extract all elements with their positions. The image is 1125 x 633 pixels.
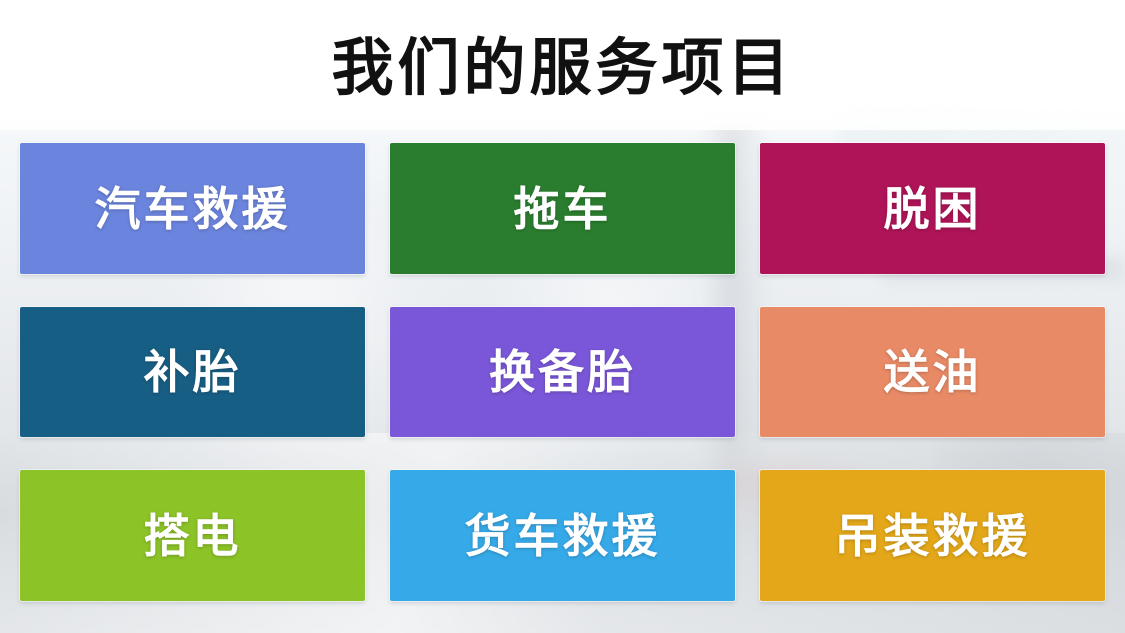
service-tile-tire-repair[interactable]: 补胎 <box>20 307 365 437</box>
service-tile-label: 换备胎 <box>489 349 636 395</box>
service-tile-car-rescue[interactable]: 汽车救援 <box>20 143 365 274</box>
header: 我们的服务项目 <box>0 0 1125 130</box>
service-tile-label: 补胎 <box>144 349 242 395</box>
service-tile-extrication[interactable]: 脱困 <box>760 143 1105 274</box>
service-tile-label: 送油 <box>884 349 982 395</box>
service-tile-label: 脱困 <box>884 186 982 232</box>
service-poster: 我们的服务项目 汽车救援 拖车 脱困 补胎 换备胎 送油 搭电 货车救援 吊装救… <box>0 0 1125 633</box>
service-grid: 汽车救援 拖车 脱困 补胎 换备胎 送油 搭电 货车救援 吊装救援 <box>20 143 1105 601</box>
service-tile-crane-rescue[interactable]: 吊装救援 <box>760 470 1105 601</box>
service-tile-jump-start[interactable]: 搭电 <box>20 470 365 601</box>
service-tile-spare-tire-change[interactable]: 换备胎 <box>390 307 735 437</box>
service-tile-label: 货车救援 <box>465 513 661 559</box>
service-tile-label: 吊装救援 <box>835 513 1031 559</box>
service-tile-label: 搭电 <box>144 513 242 559</box>
service-tile-fuel-delivery[interactable]: 送油 <box>760 307 1105 437</box>
service-tile-label: 汽车救援 <box>95 186 291 232</box>
page-title: 我们的服务项目 <box>331 37 793 99</box>
service-tile-label: 拖车 <box>514 186 612 232</box>
service-tile-truck-rescue[interactable]: 货车救援 <box>390 470 735 601</box>
service-tile-tow-truck[interactable]: 拖车 <box>390 143 735 274</box>
